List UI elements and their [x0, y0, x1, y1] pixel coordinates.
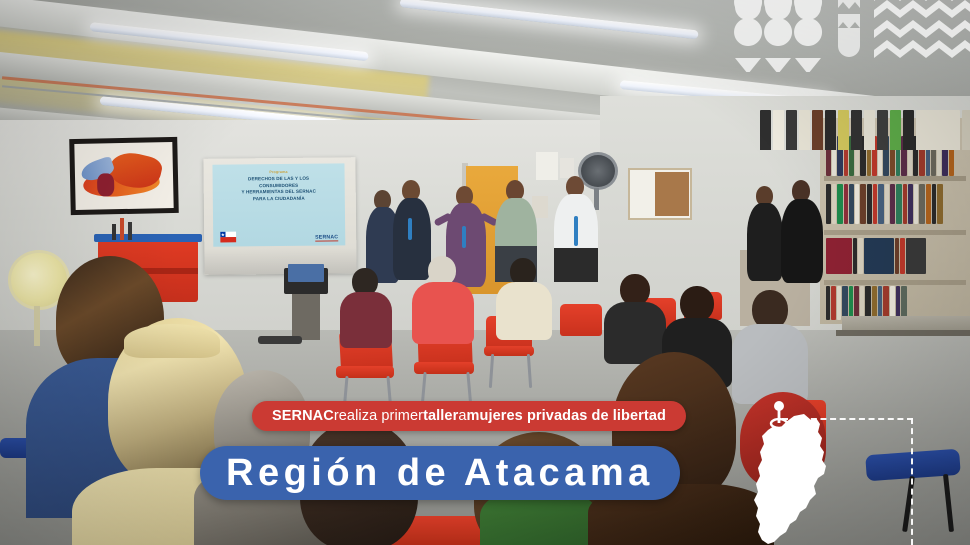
- headline-banner: SERNAC realiza primer taller a mujeres p…: [252, 401, 686, 431]
- projection-screen: Programa DERECHOS DE LAS Y LOS CONSUMIDO…: [203, 157, 356, 275]
- lanyard: [574, 216, 578, 246]
- bookcase-shelf: [824, 230, 966, 235]
- fluorescent-light: [400, 0, 699, 39]
- cart-item: [128, 222, 132, 240]
- zigzag-chevron-icon: [874, 0, 970, 58]
- artwork-shape: [96, 174, 114, 197]
- desk-fan-stand: [34, 306, 40, 346]
- wall-fan: [578, 152, 618, 190]
- wall-fan-stem: [594, 188, 599, 210]
- person-body: [393, 198, 431, 280]
- person-body: [412, 282, 474, 344]
- headline-mid-2: a: [458, 408, 466, 424]
- slide-line-4: PARA LA CIUDADANÍA: [218, 195, 340, 203]
- slide-eyebrow: Programa: [218, 169, 340, 174]
- person-body: [781, 199, 823, 283]
- chair: [560, 304, 602, 336]
- cart-item: [112, 224, 116, 240]
- lanyard: [408, 218, 412, 240]
- region-label: Región de Atacama: [226, 454, 654, 492]
- lanyard: [462, 226, 466, 248]
- region-map-graphic: [748, 398, 868, 545]
- person-head: [680, 286, 714, 322]
- sernac-logo: SERNAC: [315, 234, 338, 242]
- book-row: [826, 286, 964, 320]
- dashed-frame-right: [911, 418, 913, 545]
- book-row: [826, 184, 964, 224]
- decorative-pattern-watermark: [734, 0, 970, 72]
- atacama-map-silhouette: [748, 412, 868, 545]
- teardrop-grid-icon: [734, 0, 822, 72]
- person-body: [747, 203, 783, 281]
- cart-top: [94, 234, 202, 242]
- headline-taller: taller: [423, 408, 458, 424]
- person-body: [340, 292, 392, 348]
- laptop-screen: [288, 264, 324, 282]
- presentation-slide: Programa DERECHOS DE LAS Y LOS CONSUMIDO…: [212, 163, 345, 246]
- bookcase-shelf: [824, 280, 966, 285]
- laptop-stand: [292, 294, 320, 340]
- headline-mid-1: realiza primer: [334, 408, 423, 424]
- wall-artwork: [69, 137, 179, 215]
- headline-sernac: SERNAC: [272, 408, 334, 424]
- hair-braid: [124, 324, 220, 358]
- screen-shadow: [204, 247, 356, 275]
- social-media-card: Programa DERECHOS DE LAS Y LOS CONSUMIDO…: [0, 0, 970, 545]
- region-banner: Región de Atacama: [200, 446, 680, 500]
- book-row: [826, 238, 964, 274]
- binder-row: [760, 110, 966, 150]
- tulip-icon: [838, 0, 860, 57]
- headline-emphasis: mujeres privadas de libertad: [467, 408, 666, 424]
- person-body: [496, 282, 552, 340]
- side-table-edge: [836, 330, 970, 336]
- wall-poster: [536, 152, 558, 180]
- person-legs: [554, 248, 598, 282]
- cork-board-inner: [655, 172, 689, 216]
- wall-poster: [560, 158, 574, 178]
- power-strip: [258, 336, 302, 344]
- cart-item: [120, 218, 124, 240]
- person-body: [732, 324, 808, 404]
- bookcase-shelf: [824, 176, 966, 181]
- chile-flag-icon: [220, 231, 236, 242]
